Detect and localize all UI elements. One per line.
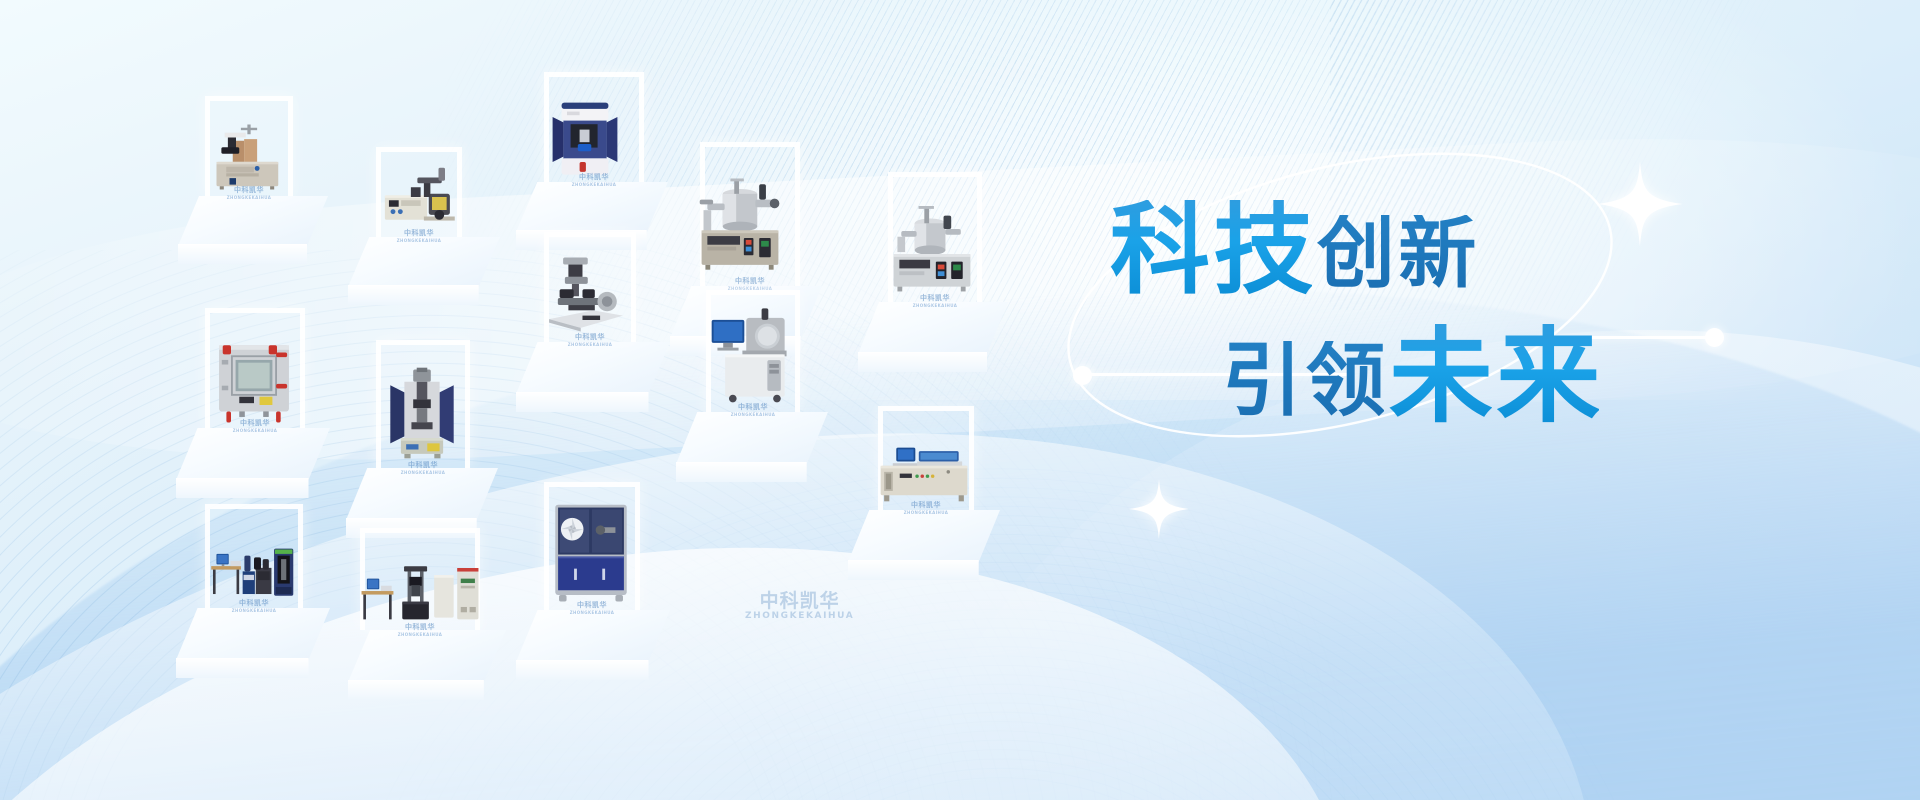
product-pedestal [516, 342, 670, 394]
pedestal-top-face [176, 608, 330, 660]
product-label-en: ZHONGKEKAIHUA [227, 195, 272, 200]
pedestal-top-face [348, 630, 506, 682]
headline-char-lai: 来 [1496, 324, 1599, 428]
product-label-cn: 中科凯华 [731, 402, 776, 412]
product-label-en: ZHONGKEKAIHUA [232, 608, 277, 613]
product-label-cn: 中科凯华 [568, 332, 613, 342]
headline-line-1: 科 技 创 新 [1110, 200, 1770, 300]
product-pedestal [848, 510, 1000, 562]
product-label-watermark: 中科凯华ZHONGKEKAIHUA [568, 332, 613, 347]
pedestal-top-face [178, 196, 328, 246]
pedestal-front-face [858, 352, 1008, 372]
product-label-watermark: 中科凯华ZHONGKEKAIHUA [570, 600, 615, 615]
orbit-node-left [1073, 366, 1092, 385]
product-image-nano-indentation-system [540, 88, 630, 180]
product-label-cn: 中科凯华 [397, 228, 442, 238]
product-pedestal [346, 468, 498, 520]
pedestal-top-face [176, 428, 330, 480]
product-image-horizontal-tensile-test-system [872, 436, 976, 510]
pedestal-top-face [676, 412, 828, 464]
pedestal-front-face [176, 478, 330, 498]
product-image-rotary-fatigue-cabinet [544, 492, 638, 610]
brand-watermark-en: ZHONGKEKAIHUA [745, 612, 854, 621]
product-label-cn: 中科凯华 [401, 460, 446, 470]
product-pedestal [176, 428, 330, 480]
product-label-cn: 中科凯华 [904, 500, 949, 510]
product-label-watermark: 中科凯华ZHONGKEKAIHUA [397, 228, 442, 243]
product-image-universal-testing-machine-lab [358, 552, 482, 630]
headline-char-chuang: 创 [1317, 215, 1394, 293]
pedestal-top-face [516, 610, 670, 662]
product-image-micro-scratch-tester [378, 158, 460, 236]
product-label-watermark: 中科凯华ZHONGKEKAIHUA [232, 598, 277, 613]
product-label-cn: 中科凯华 [398, 622, 443, 632]
product-pedestal [676, 412, 828, 464]
product-label-watermark: 中科凯华ZHONGKEKAIHUA [728, 276, 773, 291]
product-label-en: ZHONGKEKAIHUA [397, 238, 442, 243]
pedestal-top-face [858, 302, 1008, 354]
pedestal-front-face [848, 560, 1000, 580]
product-label-cn: 中科凯华 [232, 598, 277, 608]
product-label-cn: 中科凯华 [570, 600, 615, 610]
product-image-magnetron-sputtering-coater [884, 190, 980, 302]
headline-char-ji: 技 [1213, 200, 1312, 300]
product-image-micro-tribology-stage [542, 238, 630, 342]
product-pedestal [516, 610, 670, 662]
brand-watermark-cn: 中科凯华 [745, 592, 854, 612]
pedestal-top-face [348, 237, 500, 287]
pedestal-top-face [346, 468, 498, 520]
product-pedestal [348, 237, 500, 287]
product-image-environmental-chamber-tester [704, 300, 800, 412]
headline-char-yin: 引 [1222, 341, 1301, 421]
product-label-en: ZHONGKEKAIHUA [401, 470, 446, 475]
product-pedestal [516, 182, 668, 232]
product-label-en: ZHONGKEKAIHUA [913, 303, 958, 308]
pedestal-front-face [676, 462, 828, 482]
hero-banner: 科 技 创 新 引 领 未 来 中科凯 [0, 0, 1920, 800]
brand-watermark: 中科凯华 ZHONGKEKAIHUA [745, 592, 854, 621]
product-image-explosion-proof-chamber [208, 324, 300, 428]
product-label-en: ZHONGKEKAIHUA [731, 412, 776, 417]
product-label-watermark: 中科凯华ZHONGKEKAIHUA [401, 460, 446, 475]
product-pedestal [176, 608, 330, 660]
product-label-en: ZHONGKEKAIHUA [398, 632, 443, 637]
product-label-watermark: 中科凯华ZHONGKEKAIHUA [398, 622, 443, 637]
pedestal-front-face [516, 660, 670, 680]
pedestal-front-face [516, 392, 670, 412]
pedestal-top-face [516, 342, 670, 394]
pedestal-front-face [178, 244, 328, 264]
pedestal-top-face [516, 182, 668, 232]
pedestal-front-face [348, 680, 506, 700]
product-image-vacuum-coating-machine [692, 168, 788, 286]
product-label-watermark: 中科凯华ZHONGKEKAIHUA [227, 185, 272, 200]
product-label-cn: 中科凯华 [913, 293, 958, 303]
headline-block: 科 技 创 新 引 领 未 来 [1110, 200, 1770, 428]
headline-char-ke: 科 [1110, 200, 1209, 300]
headline-char-xin: 新 [1398, 215, 1475, 293]
product-label-cn: 中科凯华 [572, 172, 617, 182]
pedestal-front-face [176, 658, 330, 678]
product-pedestal [178, 196, 328, 246]
product-pedestal [858, 302, 1008, 354]
product-label-watermark: 中科凯华ZHONGKEKAIHUA [233, 418, 278, 433]
product-image-biaxial-fatigue-testing-machine [378, 348, 466, 468]
pedestal-top-face [848, 510, 1000, 562]
product-label-en: ZHONGKEKAIHUA [568, 342, 613, 347]
product-label-cn: 中科凯华 [227, 185, 272, 195]
sparkle-lower-left [1128, 478, 1190, 540]
product-label-en: ZHONGKEKAIHUA [570, 610, 615, 615]
headline-char-wei: 未 [1389, 324, 1492, 428]
product-label-watermark: 中科凯华ZHONGKEKAIHUA [731, 402, 776, 417]
product-label-watermark: 中科凯华ZHONGKEKAIHUA [572, 172, 617, 187]
product-pedestal [348, 630, 506, 682]
pedestal-front-face [348, 285, 500, 305]
product-label-en: ZHONGKEKAIHUA [572, 182, 617, 187]
headline-char-ling: 领 [1305, 341, 1384, 421]
product-label-watermark: 中科凯华ZHONGKEKAIHUA [904, 500, 949, 515]
product-label-en: ZHONGKEKAIHUA [233, 428, 278, 433]
product-label-cn: 中科凯华 [233, 418, 278, 428]
product-label-en: ZHONGKEKAIHUA [904, 510, 949, 515]
product-label-cn: 中科凯华 [728, 276, 773, 286]
product-label-watermark: 中科凯华ZHONGKEKAIHUA [913, 293, 958, 308]
headline-line-2: 引 领 未 来 [1222, 324, 1770, 428]
product-image-fatigue-test-lab-setup [206, 534, 302, 608]
